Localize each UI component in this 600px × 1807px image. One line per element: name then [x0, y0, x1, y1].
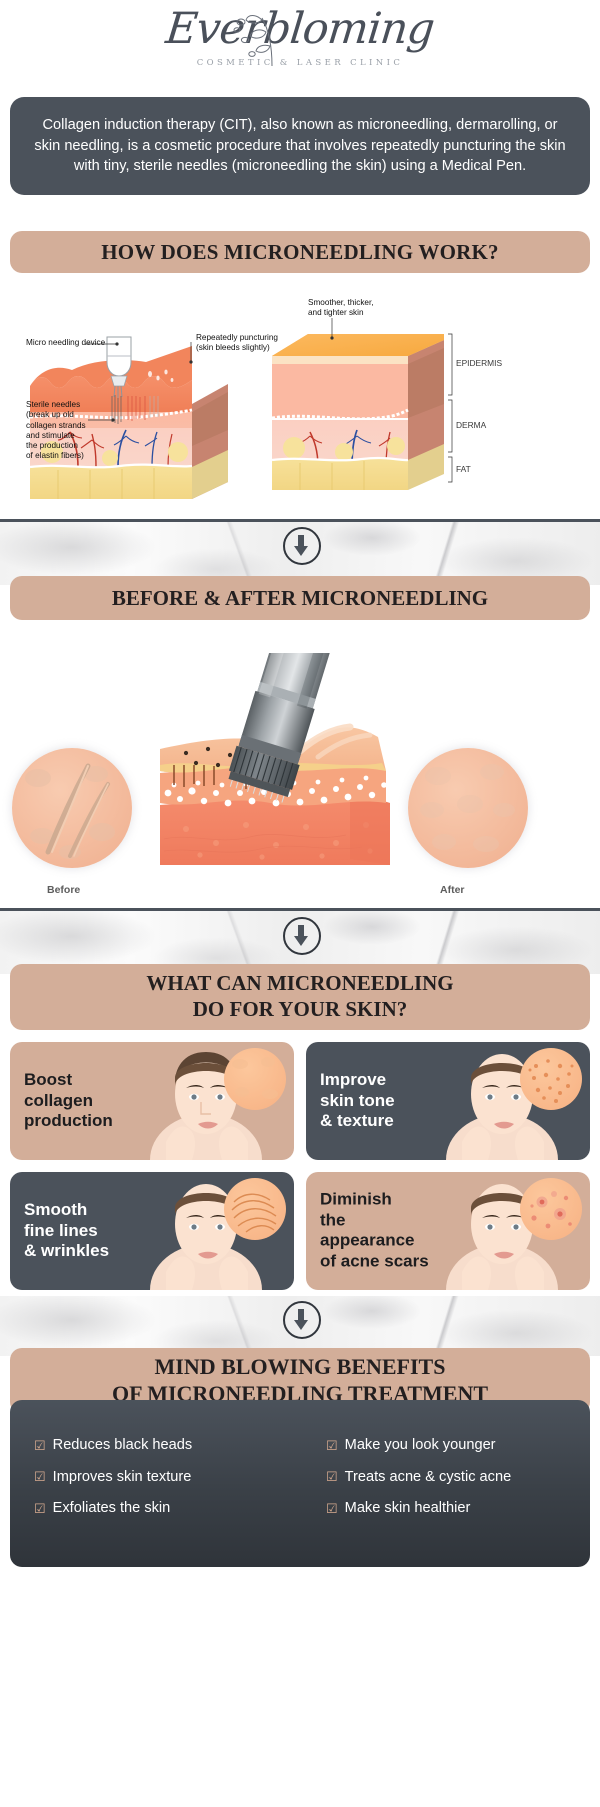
before-label: Before: [47, 884, 80, 896]
benefit-cards-grid: Boost collagen production: [10, 1042, 590, 1290]
card-line-1: Boost: [24, 1070, 164, 1091]
label-line-2: (break up old: [26, 410, 90, 420]
card-line-3: & wrinkles: [24, 1241, 164, 1262]
card-line-2: the: [320, 1210, 475, 1231]
benefit-item: ☑ Make skin healthier: [304, 1501, 574, 1516]
heading-line-1: MIND BLOWING BENEFITS: [10, 1354, 590, 1381]
brand-name: Everbloming: [164, 8, 436, 51]
benefit-label: Make you look younger: [345, 1438, 496, 1453]
label-line-2: (skin bleeds slightly): [196, 343, 278, 353]
card-line-3: production: [24, 1111, 164, 1132]
skin-cross-section-illustration: [0, 300, 600, 510]
benefit-label: Exfoliates the skin: [53, 1501, 171, 1516]
benefit-label: Treats acne & cystic acne: [345, 1470, 512, 1485]
card-text: Boost collagen production: [24, 1070, 164, 1132]
label-line-3: collagen strands: [26, 421, 90, 431]
down-arrow-circle-icon-1: [283, 527, 321, 565]
benefit-card-improve-tone[interactable]: Improve skin tone & texture: [306, 1042, 590, 1160]
card-line-3: & texture: [320, 1111, 460, 1132]
heading-text: HOW DOES MICRONEEDLING WORK?: [10, 240, 590, 265]
benefits-list: ☑ Reduces black heads ☑ Make you look yo…: [10, 1400, 590, 1536]
label-line-4: and stimulate: [26, 431, 90, 441]
label-line-5: the production: [26, 441, 90, 451]
check-circle-icon: ☑: [34, 1439, 46, 1452]
benefit-item: ☑ Treats acne & cystic acne: [304, 1470, 574, 1502]
benefit-card-acne-scars[interactable]: Diminish the appearance of acne scars: [306, 1172, 590, 1290]
heading-line-2: DO FOR YOUR SKIN?: [10, 997, 590, 1023]
down-arrow-circle-icon-2: [283, 917, 321, 955]
benefit-item: ☑ Exfoliates the skin: [34, 1501, 304, 1516]
before-skin-closeup: [12, 748, 132, 868]
heading-line-1: WHAT CAN MICRONEEDLING: [10, 971, 590, 997]
smooth-skin-swatch-icon: [224, 1048, 286, 1110]
card-line-1: Smooth: [24, 1200, 164, 1221]
diagram-label-epidermis: EPIDERMIS: [456, 358, 502, 369]
check-circle-icon: ☑: [34, 1502, 46, 1515]
card-text: Smooth fine lines & wrinkles: [24, 1200, 164, 1262]
intro-panel: Collagen induction therapy (CIT), also k…: [10, 97, 590, 195]
brand-tagline: COSMETIC & LASER CLINIC: [0, 58, 600, 68]
card-line-2: skin tone: [320, 1091, 460, 1112]
label-line-1: Smoother, thicker,: [308, 298, 374, 308]
label-line-1: Repeatedly puncturing: [196, 333, 278, 343]
diagram-label-device: Micro needling device: [26, 338, 105, 348]
check-circle-icon: ☑: [326, 1502, 338, 1515]
before-after-illustration: Before After: [0, 645, 600, 900]
wrinkles-swatch-icon: [224, 1178, 286, 1240]
section-heading-what-can-it-do: WHAT CAN MICRONEEDLING DO FOR YOUR SKIN?: [10, 964, 590, 1030]
card-line-4: of acne scars: [320, 1252, 475, 1273]
microneedling-diagram: Micro needling device Repeatedly punctur…: [0, 300, 600, 510]
label-line-6: of elastin fibers): [26, 451, 90, 461]
card-line-2: collagen: [24, 1091, 164, 1112]
down-arrow-circle-icon-3: [283, 1301, 321, 1339]
benefit-item: ☑ Improves skin texture: [34, 1470, 304, 1502]
microneedling-pen-on-skin: [150, 653, 450, 888]
card-text: Diminish the appearance of acne scars: [320, 1190, 475, 1273]
benefit-item: ☑ Reduces black heads: [34, 1438, 304, 1470]
label-line-1: Sterile needles: [26, 400, 90, 410]
diagram-label-sterile-needles: Sterile needles (break up old collagen s…: [26, 400, 90, 462]
after-label: After: [440, 884, 465, 896]
diagram-label-smoother-skin: Smoother, thicker, and tighter skin: [308, 298, 374, 319]
card-line-3: appearance: [320, 1231, 475, 1252]
check-circle-icon: ☑: [326, 1470, 338, 1483]
card-line-1: Improve: [320, 1070, 460, 1091]
brand-logo: Everbloming COSMETIC & LASER CLINIC: [0, 8, 600, 68]
benefit-label: Reduces black heads: [53, 1438, 193, 1453]
section-heading-before-after: BEFORE & AFTER MICRONEEDLING: [10, 576, 590, 620]
benefit-card-smooth-wrinkles[interactable]: Smooth fine lines & wrinkles: [10, 1172, 294, 1290]
pores-swatch-icon: [520, 1048, 582, 1110]
after-skin-closeup: [408, 748, 528, 868]
check-circle-icon: ☑: [34, 1470, 46, 1483]
diagram-label-fat: FAT: [456, 464, 471, 475]
benefit-label: Make skin healthier: [345, 1501, 471, 1516]
section-heading-how-it-works: HOW DOES MICRONEEDLING WORK?: [10, 231, 590, 273]
check-circle-icon: ☑: [326, 1439, 338, 1452]
benefit-card-boost-collagen[interactable]: Boost collagen production: [10, 1042, 294, 1160]
card-line-2: fine lines: [24, 1221, 164, 1242]
benefit-item: ☑ Make you look younger: [304, 1438, 574, 1470]
acne-scars-swatch-icon: [520, 1178, 582, 1240]
card-line-1: Diminish: [320, 1190, 475, 1211]
benefits-panel: ☑ Reduces black heads ☑ Make you look yo…: [10, 1400, 590, 1567]
label-line-2: and tighter skin: [308, 308, 374, 318]
benefit-label: Improves skin texture: [53, 1470, 192, 1485]
card-text: Improve skin tone & texture: [320, 1070, 460, 1132]
infographic-page: Everbloming COSMETIC & LASER CLINIC Coll…: [0, 0, 600, 1807]
diagram-label-puncturing: Repeatedly puncturing (skin bleeds sligh…: [196, 333, 278, 354]
diagram-label-derma: DERMA: [456, 420, 486, 431]
floral-sprig-icon: [226, 10, 282, 70]
heading-text: BEFORE & AFTER MICRONEEDLING: [10, 586, 590, 611]
